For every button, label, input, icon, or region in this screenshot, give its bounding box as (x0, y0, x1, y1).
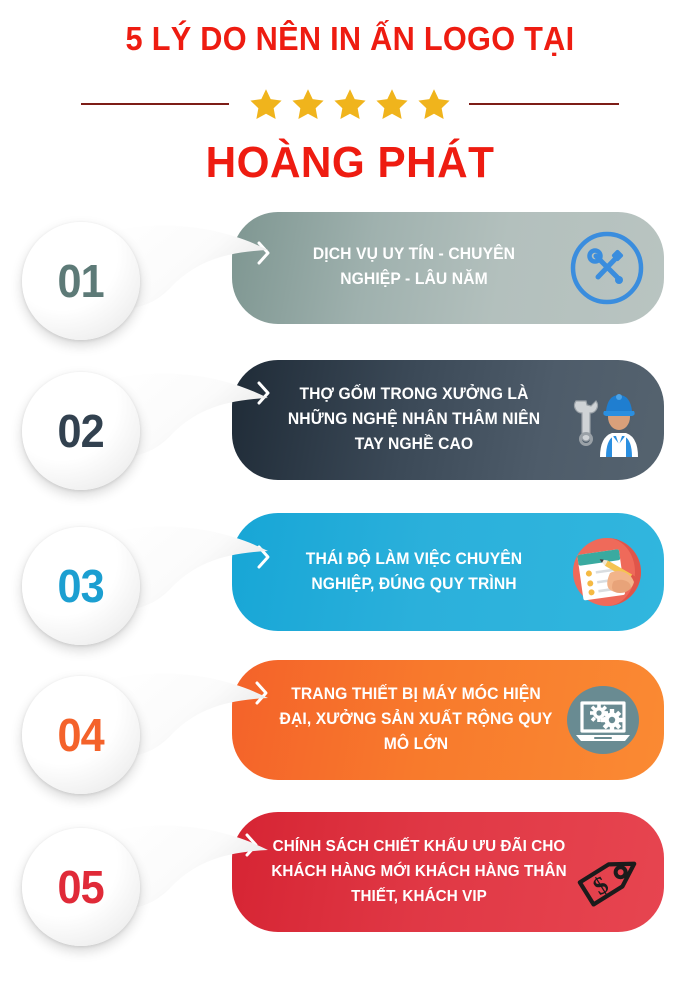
divider-line-left (81, 103, 229, 105)
star-rating (249, 87, 451, 121)
reason-row-3: THÁI ĐỘ LÀM VIỆC CHUYÊN NGHIỆP, ĐÚNG QUY… (0, 513, 700, 663)
reason-row-2: THỢ GỐM TRONG XƯỞNG LÀ NHỮNG NGHỆ NHÂN T… (0, 360, 700, 510)
laptop-gears-icon (560, 677, 646, 763)
worker-icon (562, 377, 648, 463)
reason-text-4: TRANG THIẾT BỊ MÁY MÓC HIỆN ĐẠI, XƯỞNG S… (279, 682, 553, 757)
number-label-5: 05 (58, 860, 104, 914)
rating-divider (0, 83, 700, 125)
brand-name: HOÀNG PHÁT (14, 137, 686, 189)
number-badge-2: 02 (22, 372, 140, 490)
number-badge-5: 05 (22, 828, 140, 946)
page-title: 5 LÝ DO NÊN IN ẤN LOGO TẠI (25, 19, 676, 59)
chevron-right-icon (256, 380, 272, 406)
reason-row-4: TRANG THIẾT BỊ MÁY MÓC HIỆN ĐẠI, XƯỞNG S… (0, 660, 700, 815)
reason-text-1: DỊCH VỤ UY TÍN - CHUYÊN NGHIỆP - LÂU NĂM (283, 242, 545, 292)
reason-banner-5: CHÍNH SÁCH CHIẾT KHẤU ƯU ĐÃI CHO KHÁCH H… (232, 812, 664, 932)
reason-row-1: DỊCH VỤ UY TÍN - CHUYÊN NGHIỆP - LÂU NĂM (0, 212, 700, 362)
chevron-right-icon (256, 544, 272, 570)
reason-banner-4: TRANG THIẾT BỊ MÁY MÓC HIỆN ĐẠI, XƯỞNG S… (232, 660, 664, 780)
reason-text-2: THỢ GỐM TRONG XƯỞNG LÀ NHỮNG NGHỆ NHÂN T… (283, 382, 545, 457)
number-label-3: 03 (58, 559, 104, 613)
reason-banner-2: THỢ GỐM TRONG XƯỞNG LÀ NHỮNG NGHỆ NHÂN T… (232, 360, 664, 480)
number-badge-4: 04 (22, 676, 140, 794)
chevron-right-icon (254, 680, 270, 706)
divider-line-right (469, 103, 619, 105)
number-label-1: 01 (58, 254, 104, 308)
star-icon (249, 87, 283, 121)
number-badge-3: 03 (22, 527, 140, 645)
chevron-right-icon (244, 832, 260, 858)
reason-banner-3: THÁI ĐỘ LÀM VIỆC CHUYÊN NGHIỆP, ĐÚNG QUY… (232, 513, 664, 631)
star-icon (375, 87, 409, 121)
tools-circle-icon (564, 225, 650, 311)
infographic-header: 5 LÝ DO NÊN IN ẤN LOGO TẠI HOÀNG PHÁT (0, 0, 700, 205)
star-icon (333, 87, 367, 121)
star-icon (417, 87, 451, 121)
number-badge-1: 01 (22, 222, 140, 340)
reason-text-5: CHÍNH SÁCH CHIẾT KHẤU ƯU ĐÃI CHO KHÁCH H… (268, 834, 570, 909)
reason-text-3: THÁI ĐỘ LÀM VIỆC CHUYÊN NGHIỆP, ĐÚNG QUY… (283, 547, 545, 597)
svg-text:$: $ (589, 871, 614, 901)
reason-row-5: CHÍNH SÁCH CHIẾT KHẤU ƯU ĐÃI CHO KHÁCH H… (0, 812, 700, 972)
reason-banner-1: DỊCH VỤ UY TÍN - CHUYÊN NGHIỆP - LÂU NĂM (232, 212, 664, 324)
number-label-4: 04 (58, 708, 104, 762)
star-icon (291, 87, 325, 121)
number-label-2: 02 (58, 404, 104, 458)
price-tag-icon: $ (570, 834, 656, 920)
checklist-icon (564, 529, 650, 615)
chevron-right-icon (256, 240, 272, 266)
